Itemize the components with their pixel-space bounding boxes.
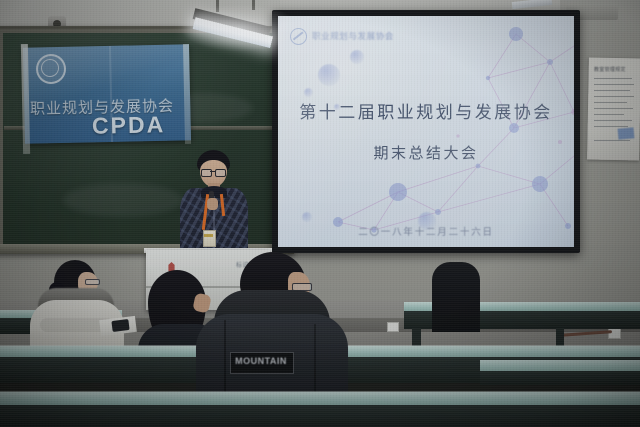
blue-stamp-icon bbox=[618, 127, 635, 139]
decorative-blob bbox=[318, 64, 340, 86]
projection-screen: 职业规划与发展协会 第十二届职业规划与发展协会 期末总结大会 二〇一八年十二月二… bbox=[278, 16, 574, 247]
light-stem bbox=[216, 0, 219, 12]
jacket-back-patch-text: MOUNTAIN bbox=[232, 356, 290, 366]
wall-outlet bbox=[387, 322, 399, 332]
decorative-blob bbox=[302, 212, 312, 222]
desk-row-near-top bbox=[0, 392, 640, 406]
classroom-photo: 职业规划与发展协会 CPDA bbox=[0, 0, 640, 427]
audience-right bbox=[432, 262, 480, 332]
poster-text-line bbox=[594, 114, 624, 115]
slide-title: 第十二届职业规划与发展协会 bbox=[278, 98, 574, 123]
poster-text-line bbox=[594, 126, 628, 127]
presenter bbox=[176, 150, 254, 262]
banner-acronym: CPDA bbox=[92, 111, 166, 140]
eyeglasses-icon bbox=[215, 169, 226, 177]
desk-row-near-face bbox=[0, 405, 640, 427]
eyeglasses-bridge bbox=[210, 171, 215, 172]
smartphone-icon bbox=[111, 319, 129, 332]
poster-text-line bbox=[594, 90, 630, 91]
decorative-blob bbox=[350, 50, 364, 64]
desk-right-front-face bbox=[480, 371, 640, 385]
name-badge-stripe bbox=[204, 234, 213, 237]
poster-text-line bbox=[594, 102, 627, 103]
slide-logo-text: 职业规划与发展协会 bbox=[312, 30, 394, 42]
presenter-hand bbox=[207, 198, 218, 210]
eyeglasses-icon bbox=[85, 279, 100, 285]
poster-text-line bbox=[594, 78, 632, 79]
slide-date: 二〇一八年十二月二十六日 bbox=[278, 224, 574, 238]
name-badge bbox=[203, 230, 216, 247]
poster-text-line bbox=[594, 120, 632, 121]
slide-logo-icon bbox=[290, 28, 307, 45]
poster-text-line bbox=[594, 140, 630, 141]
slide-subtitle: 期末总结大会 bbox=[278, 142, 574, 163]
light-stem bbox=[252, 0, 255, 10]
poster-text-line bbox=[594, 96, 634, 97]
poster-text-line bbox=[594, 84, 634, 85]
chalk-smudge bbox=[63, 183, 183, 217]
poster-heading: 教室管理规定 bbox=[594, 66, 626, 73]
poster-text-line bbox=[594, 108, 633, 109]
decorative-blob bbox=[304, 88, 313, 97]
